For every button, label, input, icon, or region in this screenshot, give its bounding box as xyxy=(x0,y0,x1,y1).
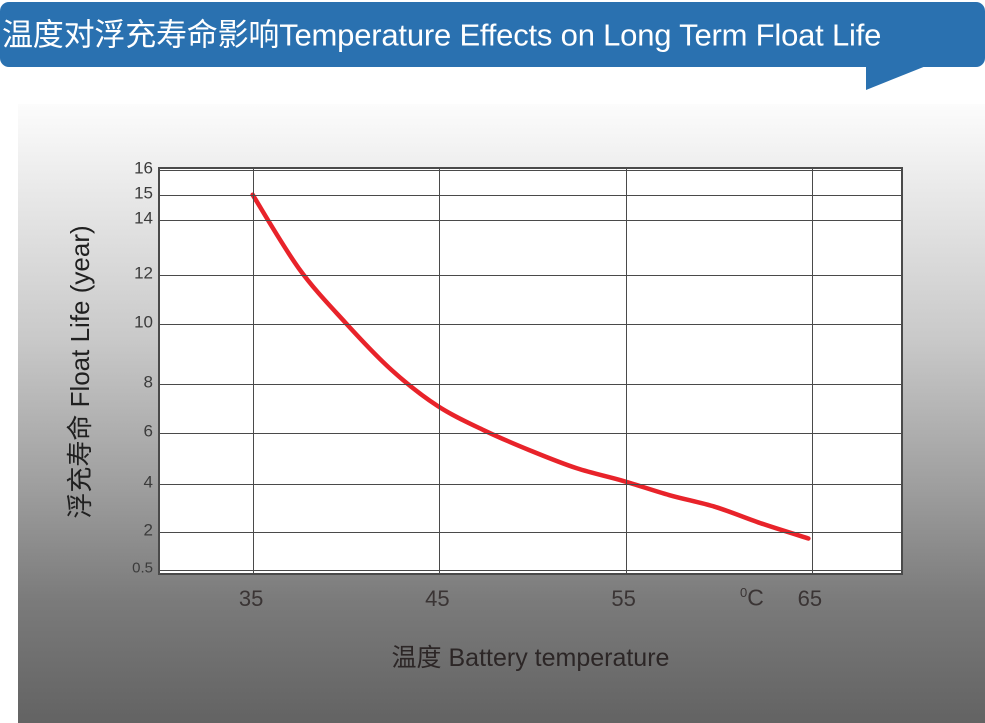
x-axis-ticks: 35455565 xyxy=(158,588,903,620)
x-axis-title: 温度 Battery temperature xyxy=(158,646,903,671)
y-tick-label: 2 xyxy=(144,522,153,539)
gridline-horizontal xyxy=(160,484,901,485)
gridline-horizontal xyxy=(160,195,901,196)
y-tick-label: 12 xyxy=(134,265,153,282)
y-axis-title: 浮充寿命 Float Life (year) xyxy=(67,142,93,602)
y-tick-label: 8 xyxy=(144,374,153,391)
celsius-letter: C xyxy=(747,585,764,611)
x-tick-label: 45 xyxy=(425,588,449,610)
y-tick-label: 10 xyxy=(134,314,153,331)
x-tick-label: 55 xyxy=(611,588,635,610)
gridline-horizontal xyxy=(160,324,901,325)
gridline-horizontal xyxy=(160,384,901,385)
plot-area xyxy=(158,167,903,575)
gridline-horizontal xyxy=(160,220,901,221)
y-tick-label: 14 xyxy=(134,210,153,227)
banner-body: 温度对浮充寿命影响Temperature Effects on Long Ter… xyxy=(0,2,985,67)
gridline-horizontal xyxy=(160,532,901,533)
x-tick-label: 65 xyxy=(798,588,822,610)
float-life-curve xyxy=(160,169,901,573)
banner-title: 温度对浮充寿命影响Temperature Effects on Long Ter… xyxy=(2,19,881,50)
y-tick-label: 0.5 xyxy=(132,561,153,576)
y-tick-label: 6 xyxy=(144,423,153,440)
y-axis-ticks: 0.524681012141516 xyxy=(113,167,153,575)
gridline-vertical xyxy=(253,169,254,573)
x-tick-label: 35 xyxy=(239,588,263,610)
gridline-vertical xyxy=(812,169,813,573)
gridline-vertical xyxy=(439,169,440,573)
gridline-horizontal xyxy=(160,570,901,571)
y-tick-label: 16 xyxy=(134,160,153,177)
y-tick-label: 4 xyxy=(144,474,153,491)
banner-tail-icon xyxy=(866,66,926,90)
gridline-horizontal xyxy=(160,170,901,171)
y-tick-label: 15 xyxy=(134,185,153,202)
gridline-vertical xyxy=(626,169,627,573)
gridline-horizontal xyxy=(160,433,901,434)
chart-panel: 浮充寿命 Float Life (year) 0.524681012141516… xyxy=(18,104,985,723)
x-axis-unit-label: 0C xyxy=(740,586,764,610)
header-banner: 温度对浮充寿命影响Temperature Effects on Long Ter… xyxy=(0,0,985,95)
gridline-horizontal xyxy=(160,275,901,276)
